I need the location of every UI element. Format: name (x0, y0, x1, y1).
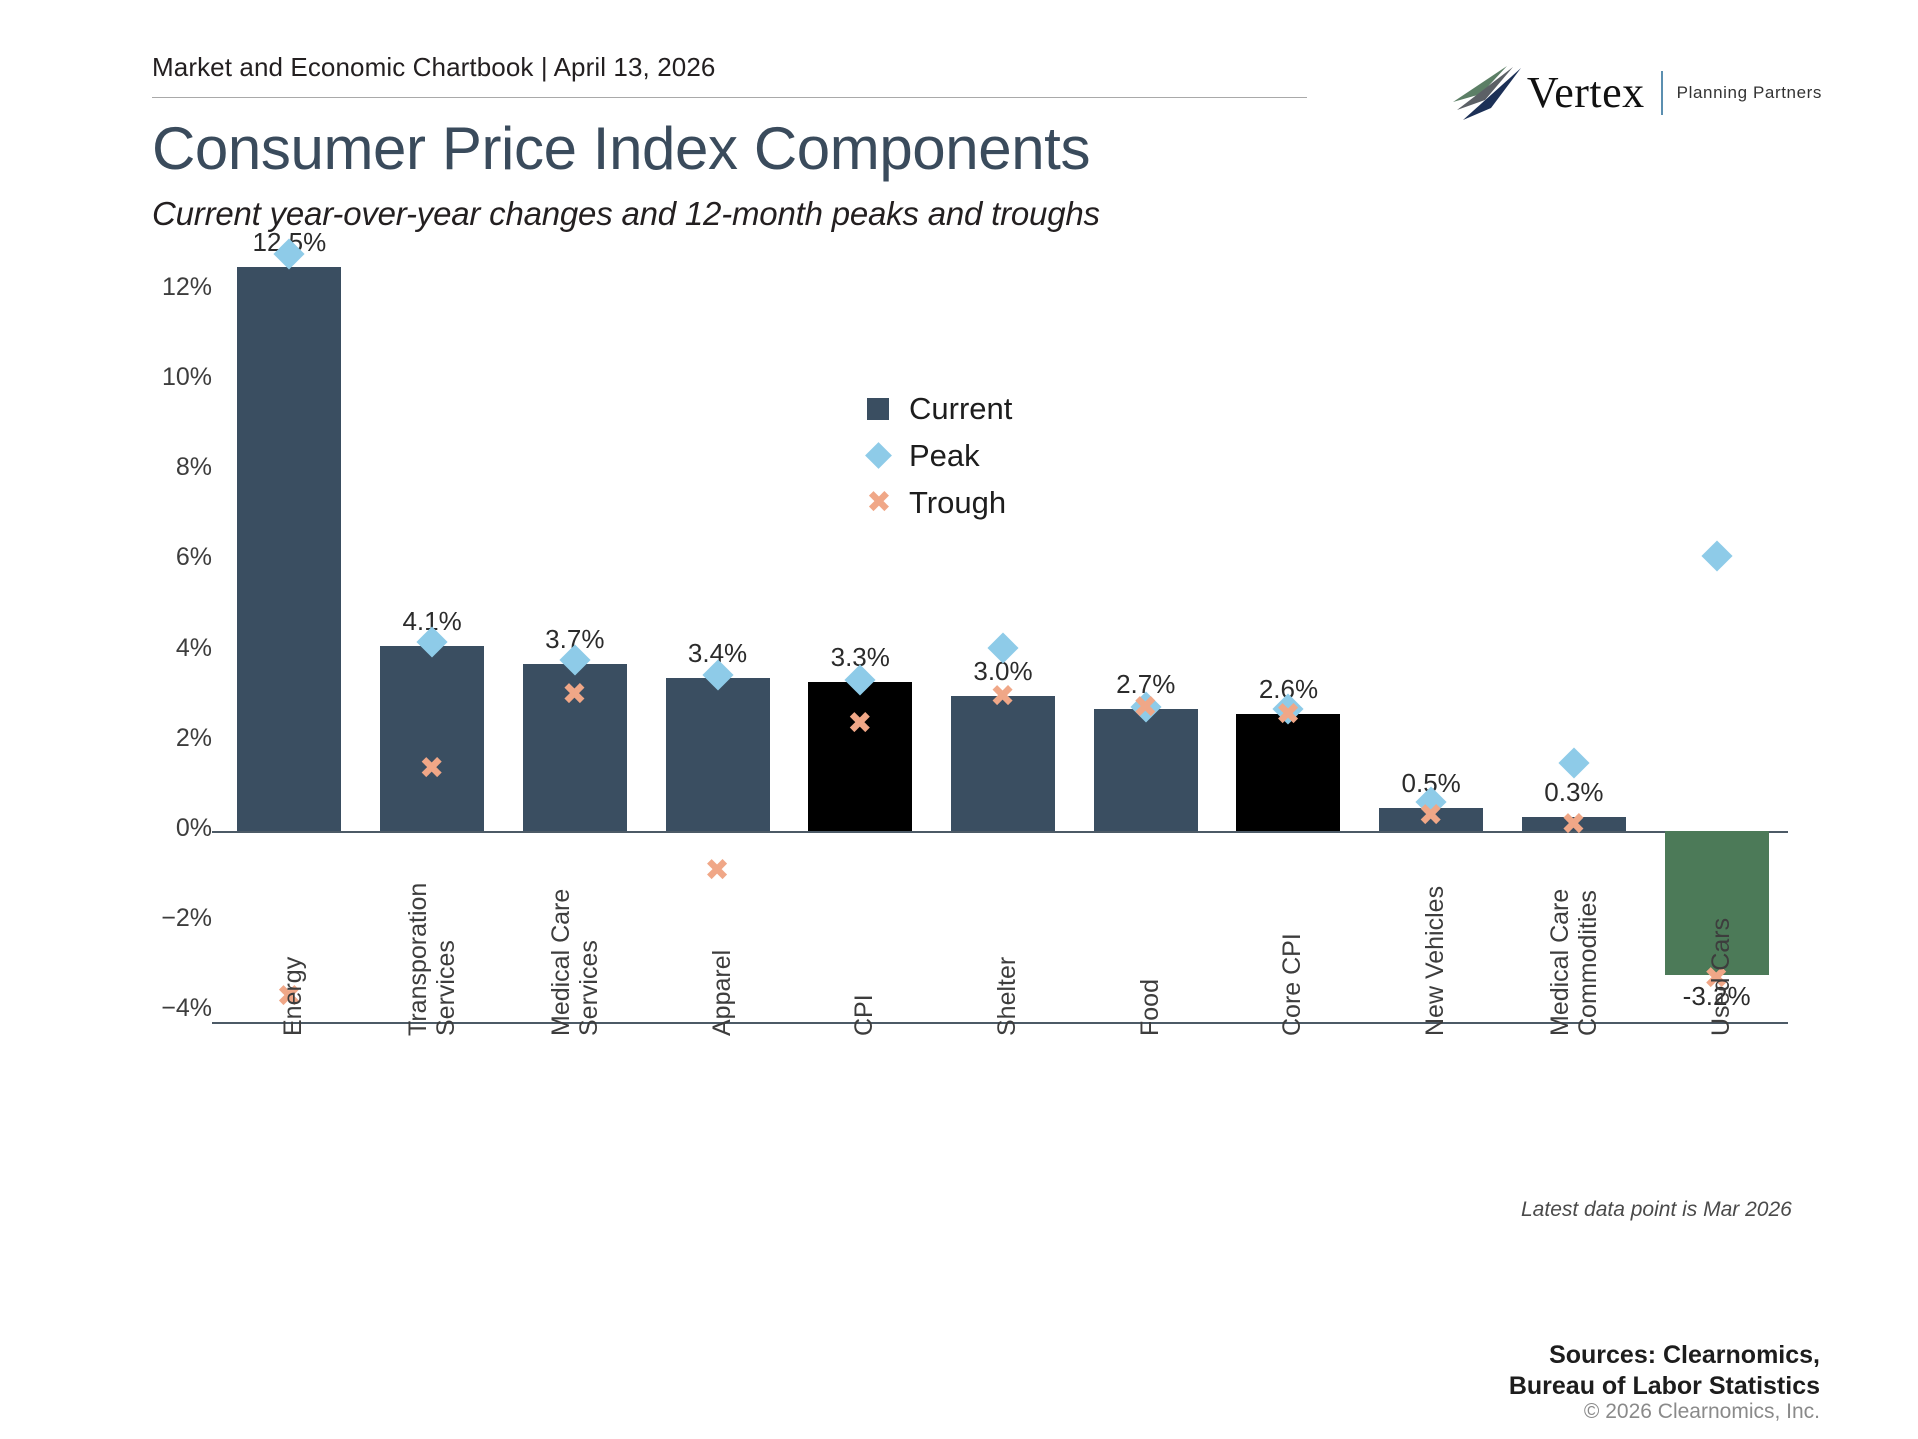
y-axis-tick-label: 6% (130, 543, 212, 572)
x-axis-category-label: Shelter (993, 957, 1021, 1036)
legend-label: Current (909, 391, 1012, 427)
trough-marker-icon: ✖ (1133, 693, 1156, 723)
diamond-marker-icon (855, 446, 901, 465)
y-axis-tick-label: −2% (130, 904, 212, 933)
trough-marker-icon: ✖ (1561, 810, 1584, 840)
copyright-note: © 2026 Clearnomics, Inc. (1584, 1400, 1820, 1424)
x-axis-category-label: New Vehicles (1421, 886, 1449, 1036)
sources-note: Sources: Clearnomics, Bureau of Labor St… (1509, 1340, 1820, 1403)
y-axis-tick-label: 10% (130, 363, 212, 392)
legend-label: Trough (909, 485, 1006, 521)
trough-marker-icon: ✖ (419, 754, 442, 784)
square-marker-icon (855, 398, 901, 420)
legend-item-current[interactable]: Current (855, 385, 1012, 432)
bar-cpi[interactable] (808, 682, 912, 831)
y-axis-tick-label: 12% (130, 273, 212, 302)
bar-shelter[interactable] (951, 696, 1055, 831)
legend-label: Peak (909, 438, 980, 474)
x-axis-category-label: Apparel (708, 950, 736, 1036)
sources-line-1: Sources: Clearnomics, (1509, 1340, 1820, 1371)
y-axis-tick-label: 2% (130, 724, 212, 753)
trough-marker-icon: ✖ (562, 680, 585, 710)
latest-data-point-note: Latest data point is Mar 2026 (1521, 1198, 1792, 1222)
chart-plot-area: −4%−2%0%2%4%6%8%10%12%12.5%✖Energy4.1%✖T… (0, 0, 1918, 1439)
bar-transporation-services[interactable] (380, 646, 484, 831)
bar-apparel[interactable] (666, 678, 770, 831)
sources-line-2: Bureau of Labor Statistics (1509, 1371, 1820, 1402)
x-axis-category-label: TransporationServices (404, 883, 460, 1036)
y-axis-tick-label: −4% (130, 994, 212, 1023)
x-marker-icon: ✖ (855, 488, 901, 518)
trough-marker-icon: ✖ (990, 682, 1013, 712)
bar-food[interactable] (1094, 709, 1198, 831)
y-axis-tick-label: 8% (130, 453, 212, 482)
peak-marker-icon (1558, 748, 1589, 779)
x-axis-category-label: Energy (279, 957, 307, 1036)
x-axis-category-label: Food (1136, 979, 1164, 1036)
trough-marker-icon: ✖ (847, 709, 870, 739)
zero-axis-line (212, 831, 1788, 833)
trough-marker-icon: ✖ (1418, 801, 1441, 831)
x-axis-category-label: CPI (850, 994, 878, 1036)
legend-item-peak[interactable]: Peak (855, 432, 1012, 479)
y-axis-tick-label: 0% (130, 814, 212, 843)
trough-marker-icon: ✖ (705, 856, 728, 886)
peak-marker-icon (1701, 540, 1732, 571)
x-axis-category-label: Medical CareCommodities (1546, 889, 1602, 1036)
x-axis-category-label: Medical CareServices (547, 889, 603, 1036)
bar-energy[interactable] (237, 267, 341, 831)
x-axis-category-label: Used Cars (1707, 918, 1735, 1036)
y-axis-tick-label: 4% (130, 634, 212, 663)
trough-marker-icon: ✖ (1275, 700, 1298, 730)
x-axis-category-label: Core CPI (1278, 933, 1306, 1036)
bar-value-label: 0.3% (1474, 777, 1674, 808)
chart-legend: Current Peak ✖ Trough (855, 385, 1012, 526)
legend-item-trough[interactable]: ✖ Trough (855, 479, 1012, 526)
